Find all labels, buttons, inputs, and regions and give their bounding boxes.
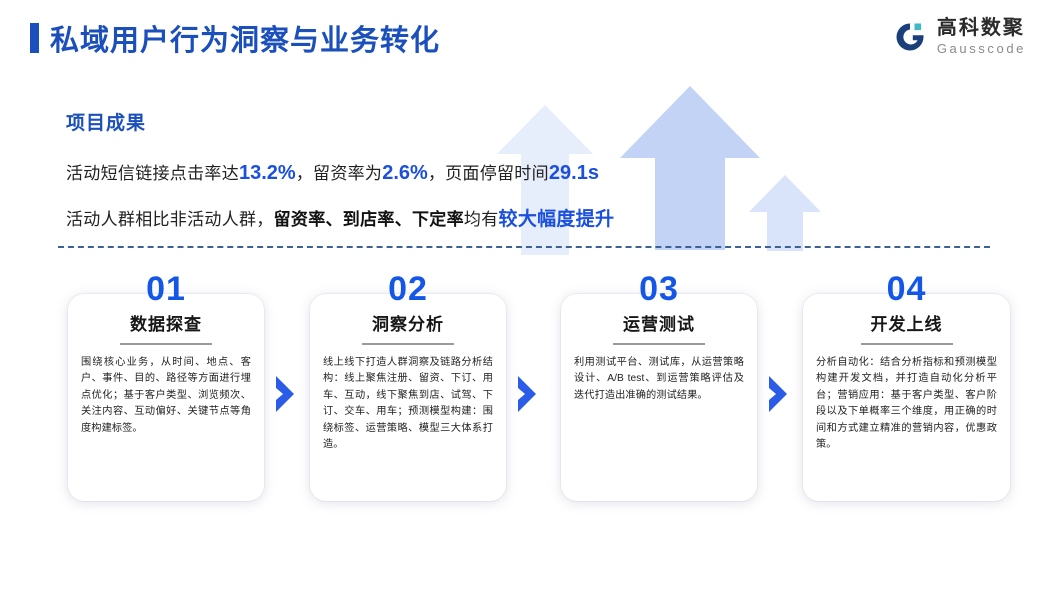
section-divider: [58, 246, 990, 248]
step-body-text-03: 利用测试平台、测试库，从运营策略设计、A/B test、到运营策略评估及迭代打造…: [574, 355, 744, 405]
result-line-2-emph-dark: 留资率、到店率、下定率: [274, 210, 464, 229]
stat-dwell-time: 29.1s: [549, 162, 599, 184]
step-rule-01: [120, 343, 212, 345]
step-number-01: 01: [68, 272, 264, 306]
result-line-1: 活动短信链接点击率达13.2%，留资率为2.6%，页面停留时间29.1s: [66, 159, 786, 185]
step-title-02: 洞察分析: [323, 316, 493, 335]
step-rule-04: [861, 343, 953, 345]
result-line-1-seg-2: ，留资率为: [296, 164, 383, 183]
step-body-text-02: 线上线下打造人群洞察及链路分析结构：线上聚焦注册、留资、下订、用车、互动，线下聚…: [323, 355, 493, 454]
gausscode-g-logo-icon: [893, 19, 929, 55]
header: 私域用户行为洞察与业务转化 高科数聚 Gausscode: [0, 0, 1048, 78]
step-card-04[interactable]: 04 开发上线 分析自动化：结合分析指标和预测模型构建开发文档，并打造自动化分析…: [803, 272, 1010, 502]
stat-lead-rate: 2.6%: [382, 162, 428, 184]
result-line-2-seg-1: 活动人群相比非活动人群，: [66, 210, 274, 229]
step-card-body-03[interactable]: 运营测试 利用测试平台、测试库，从运营策略设计、A/B test、到运营策略评估…: [561, 294, 757, 501]
title-accent-bar: [30, 23, 39, 53]
step-rule-03: [613, 343, 705, 345]
result-line-1-seg-1: 活动短信链接点击率达: [66, 164, 239, 183]
process-steps: 01 数据探查 围绕核心业务，从时间、地点、客户、事件、目的、路径等方面进行埋点…: [0, 272, 1048, 512]
brand-name-en: Gausscode: [937, 42, 1026, 55]
brand-name-cn: 高科数聚: [937, 18, 1026, 38]
step-number-03: 03: [561, 272, 757, 306]
brand-logo: 高科数聚 Gausscode: [893, 18, 1026, 55]
project-results-section: 项目成果 活动短信链接点击率达13.2%，留资率为2.6%，页面停留时间29.1…: [66, 108, 786, 250]
result-line-2: 活动人群相比非活动人群，留资率、到店率、下定率均有较大幅度提升: [66, 204, 786, 231]
step-card-body-01[interactable]: 数据探查 围绕核心业务，从时间、地点、客户、事件、目的、路径等方面进行埋点优化；…: [68, 294, 264, 501]
step-number-02: 02: [310, 272, 506, 306]
brand-logo-text: 高科数聚 Gausscode: [937, 18, 1026, 55]
step-chevron-icon-1: [274, 376, 296, 412]
page-title: 私域用户行为洞察与业务转化: [50, 17, 440, 59]
results-heading: 项目成果: [66, 108, 786, 135]
step-card-01[interactable]: 01 数据探查 围绕核心业务，从时间、地点、客户、事件、目的、路径等方面进行埋点…: [68, 272, 264, 502]
step-card-03[interactable]: 03 运营测试 利用测试平台、测试库，从运营策略设计、A/B test、到运营策…: [561, 272, 757, 502]
step-body-text-04: 分析自动化：结合分析指标和预测模型构建开发文档，并打造自动化分析平台；营销应用：…: [816, 355, 997, 454]
step-title-04: 开发上线: [816, 316, 997, 335]
step-title-01: 数据探查: [81, 316, 251, 335]
step-title-03: 运营测试: [574, 316, 744, 335]
step-card-body-02[interactable]: 洞察分析 线上线下打造人群洞察及链路分析结构：线上聚焦注册、留资、下订、用车、互…: [310, 294, 506, 501]
step-chevron-icon-2: [516, 376, 538, 412]
result-line-2-seg-2: 均有: [464, 210, 499, 229]
step-number-04: 04: [803, 272, 1010, 306]
result-line-1-seg-3: ，页面停留时间: [428, 164, 549, 183]
stat-click-rate: 13.2%: [239, 162, 296, 184]
slide-canvas: 私域用户行为洞察与业务转化 高科数聚 Gausscode: [0, 0, 1048, 591]
result-line-2-emph-blue: 较大幅度提升: [499, 209, 615, 230]
step-chevron-icon-3: [767, 376, 789, 412]
step-card-02[interactable]: 02 洞察分析 线上线下打造人群洞察及链路分析结构：线上聚焦注册、留资、下订、用…: [310, 272, 506, 502]
step-body-text-01: 围绕核心业务，从时间、地点、客户、事件、目的、路径等方面进行埋点优化；基于客户类…: [81, 355, 251, 438]
step-card-body-04[interactable]: 开发上线 分析自动化：结合分析指标和预测模型构建开发文档，并打造自动化分析平台；…: [803, 294, 1010, 501]
step-rule-02: [362, 343, 454, 345]
